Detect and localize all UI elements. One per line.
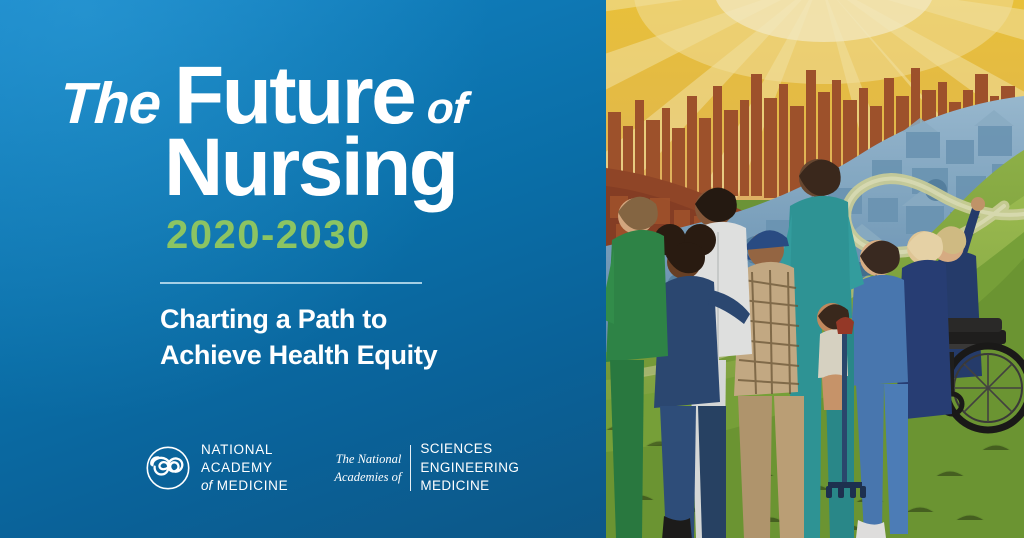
national-academies-logo: The National Academies of SCIENCES ENGIN… <box>334 440 519 496</box>
nam-line-3: of MEDICINE <box>201 477 288 495</box>
national-academy-of-medicine-logo: NATIONAL ACADEMY of MEDICINE <box>145 441 288 495</box>
nas-logo-left-text: The National Academies of <box>334 450 410 486</box>
nas-right-line-2: ENGINEERING <box>420 459 519 478</box>
nas-left-line-1: The National <box>334 450 401 468</box>
nas-left-line-2: Academies of <box>334 468 401 486</box>
nas-logo-rule <box>410 445 411 491</box>
nas-logo-right-text: SCIENCES ENGINEERING MEDICINE <box>411 440 519 496</box>
nam-line-3-italic: of <box>201 478 212 493</box>
poster: The Future of Nursing 2020-2030 Charting… <box>0 0 1024 538</box>
logo-row: NATIONAL ACADEMY of MEDICINE The Nationa… <box>145 440 519 496</box>
subtitle-line-2: Achieve Health Equity <box>160 338 437 374</box>
nam-line-3-word: MEDICINE <box>217 478 289 493</box>
nam-line-1: NATIONAL <box>201 441 288 459</box>
subtitle: Charting a Path to Achieve Health Equity <box>160 302 437 373</box>
nas-right-line-3: MEDICINE <box>420 477 519 496</box>
nam-serpent-emblem-icon <box>145 445 191 491</box>
collage-illustration <box>606 0 1024 538</box>
nas-right-line-1: SCIENCES <box>420 440 519 459</box>
title-panel: The Future of Nursing 2020-2030 Charting… <box>0 0 606 538</box>
page-title: The Future of Nursing 2020-2030 <box>60 58 580 258</box>
title-word-nursing: Nursing <box>164 128 580 208</box>
title-year-range: 2020-2030 <box>60 213 580 258</box>
nam-line-2: ACADEMY <box>201 459 288 477</box>
title-line-2: Nursing <box>60 128 580 208</box>
subtitle-line-1: Charting a Path to <box>160 302 437 338</box>
divider <box>160 282 422 284</box>
title-word-of: of <box>426 84 468 134</box>
nam-logo-text: NATIONAL ACADEMY of MEDICINE <box>201 441 288 495</box>
title-word-the: The <box>59 76 162 131</box>
